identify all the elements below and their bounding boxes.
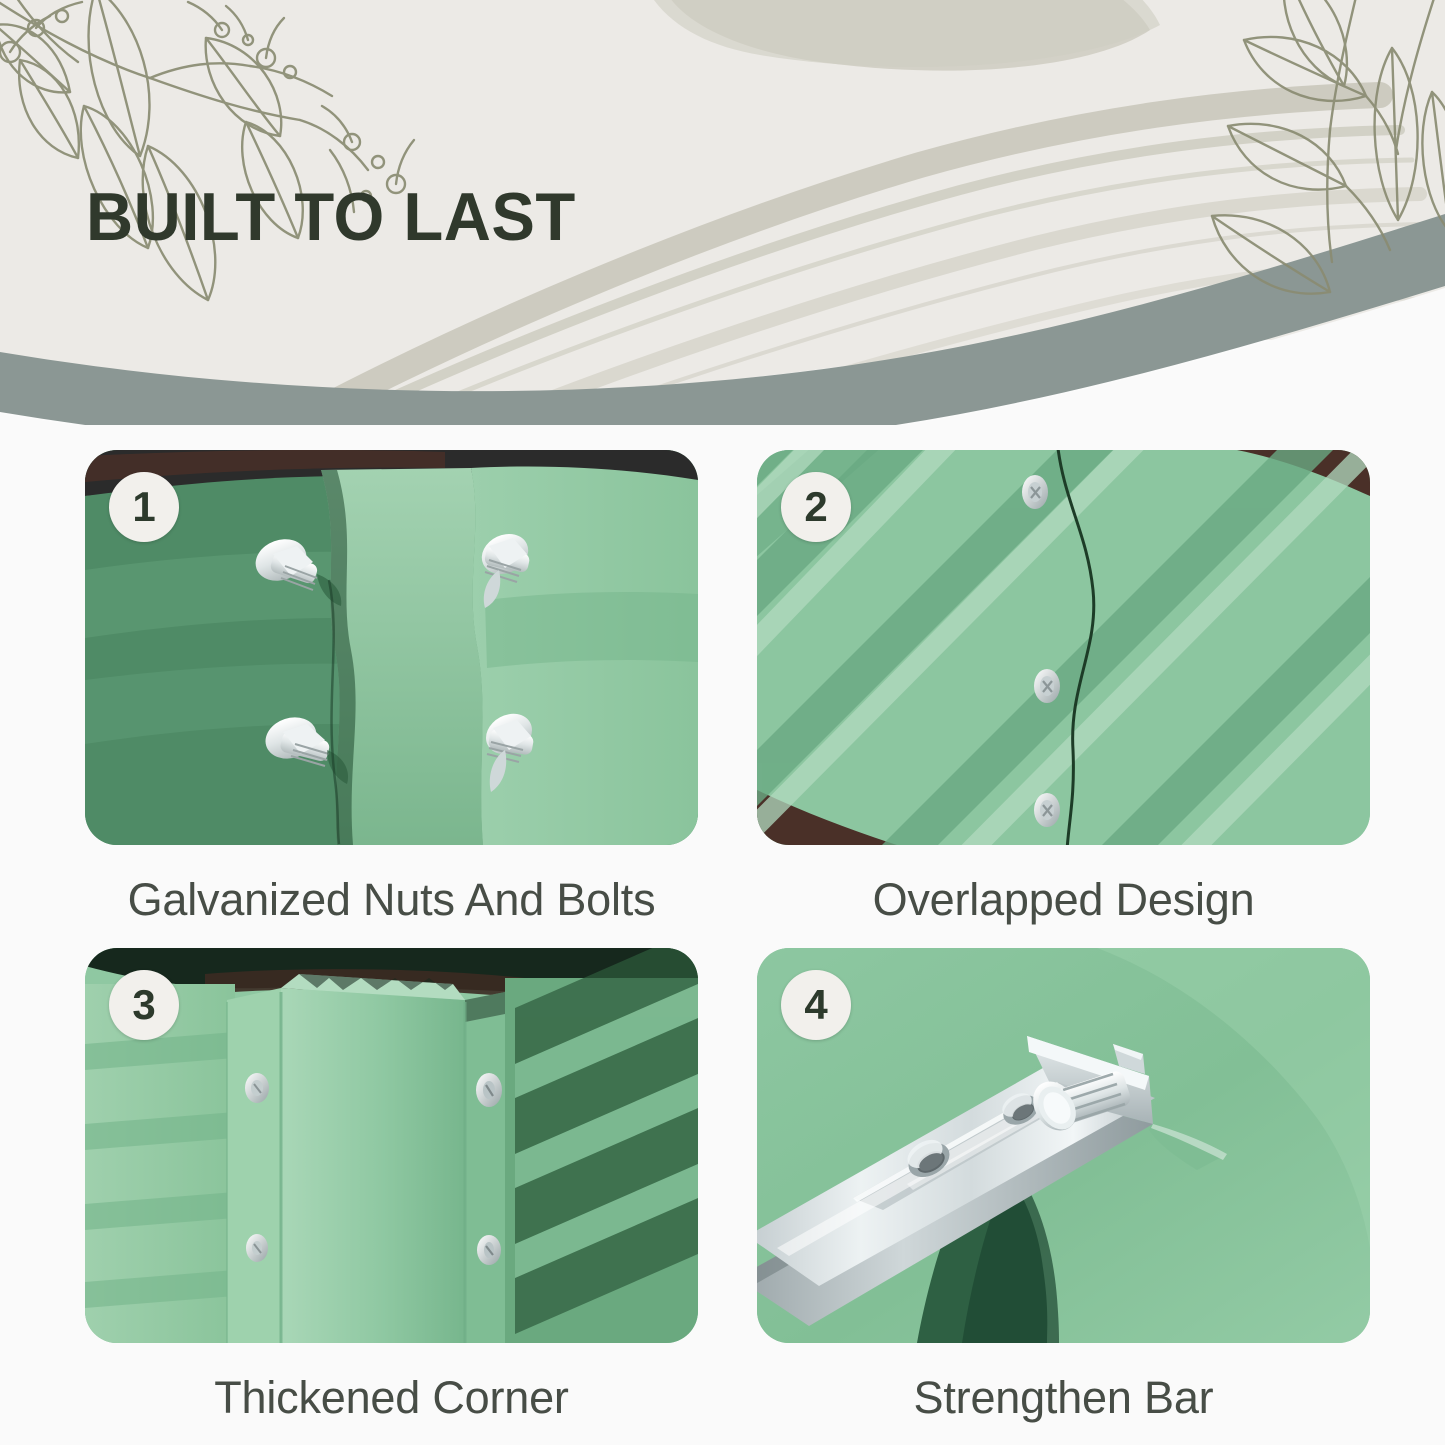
feature-card-3: 3 Thickened Corner [85, 948, 698, 1423]
feature-card-4: 4 Strengthen Bar [757, 948, 1370, 1423]
photo-galvanized-nuts-and-bolts: 1 [85, 450, 698, 845]
photo-strengthen-bar: 4 [757, 948, 1370, 1343]
feature-card-1: 1 Galvanized Nuts And Bolts [85, 450, 698, 925]
infographic-page: BUILT TO LAST [0, 0, 1445, 1445]
header-banner: BUILT TO LAST [0, 0, 1445, 425]
photo-thickened-corner: 3 [85, 948, 698, 1343]
feature-badge-4: 4 [781, 970, 851, 1040]
feature-badge-3: 3 [109, 970, 179, 1040]
feature-caption-4: Strengthen Bar [757, 1373, 1370, 1423]
feature-caption-2: Overlapped Design [757, 875, 1370, 925]
feature-badge-1: 1 [109, 472, 179, 542]
feature-badge-2: 2 [781, 472, 851, 542]
page-title: BUILT TO LAST [86, 183, 576, 251]
feature-caption-3: Thickened Corner [85, 1373, 698, 1423]
photo-overlapped-design: 2 [757, 450, 1370, 845]
feature-grid: 1 Galvanized Nuts And Bolts [0, 440, 1445, 1445]
feature-card-2: 2 Overlapped Design [757, 450, 1370, 925]
feature-caption-1: Galvanized Nuts And Bolts [85, 875, 698, 925]
